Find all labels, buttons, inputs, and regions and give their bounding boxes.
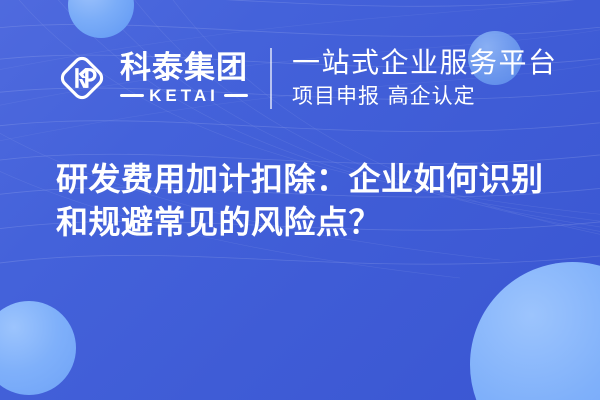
promo-banner: 科泰集团 KETAI 一站式企业服务平台 项目申报 高企认定 研发费用加计扣除：… xyxy=(0,0,600,400)
brand-name-en: KETAI xyxy=(149,87,219,105)
brand-text: 科泰集团 KETAI xyxy=(120,52,248,105)
brand-name-cn: 科泰集团 xyxy=(120,52,248,85)
brand-dash-left xyxy=(120,94,144,97)
tagline-main: 一站式企业服务平台 xyxy=(292,47,558,79)
page-title: 研发费用加计扣除：企业如何识别和规避常见的风险点？ xyxy=(56,158,560,244)
brand-dash-right xyxy=(224,94,248,97)
tagline-sub: 项目申报 高企认定 xyxy=(292,83,558,109)
brand-divider xyxy=(270,48,272,109)
tagline-block: 一站式企业服务平台 项目申报 高企认定 xyxy=(292,47,558,109)
brand-name-en-row: KETAI xyxy=(120,87,248,105)
brand-lockup: 科泰集团 KETAI xyxy=(56,52,248,105)
ketai-kp-monogram-icon xyxy=(56,52,108,104)
banner-header: 科泰集团 KETAI 一站式企业服务平台 项目申报 高企认定 xyxy=(0,38,600,118)
